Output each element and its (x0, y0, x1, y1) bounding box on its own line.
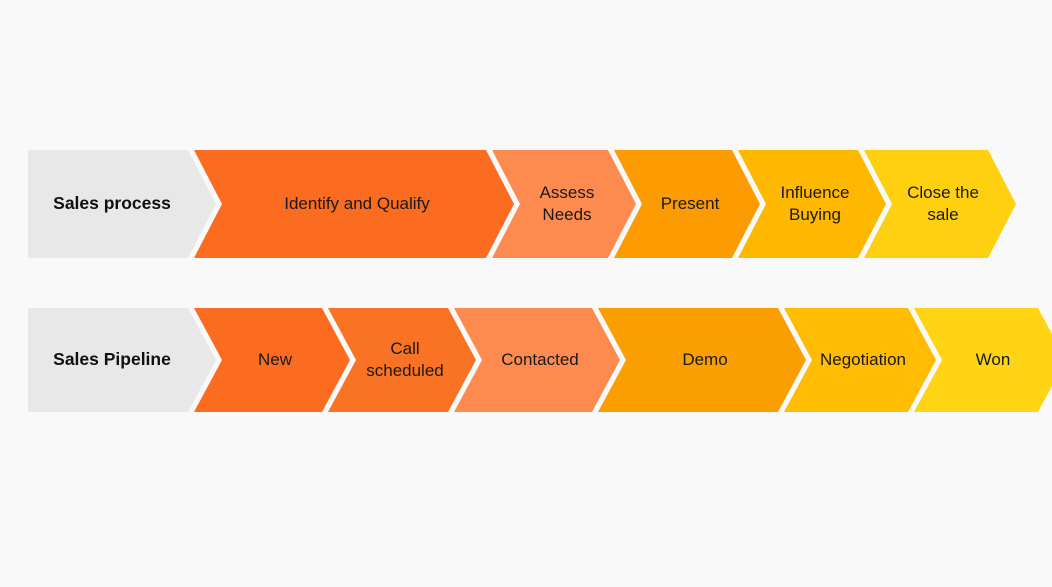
stage-sales-process-4[interactable]: Close the sale (864, 150, 1016, 258)
process-row-sales-pipeline: Sales PipelineNewCall scheduledContacted… (28, 308, 1052, 412)
stage-label: Negotiation (800, 349, 920, 371)
stage-label: Identify and Qualify (264, 193, 444, 215)
stage-label: Contacted (481, 349, 593, 371)
process-row-sales-process: Sales processIdentify and QualifyAssess … (28, 150, 1016, 258)
stage-label: Influence Buying (761, 182, 864, 227)
stage-sales-pipeline-4[interactable]: Negotiation (784, 308, 936, 412)
stage-label: Won (956, 349, 1025, 371)
stage-sales-process-3[interactable]: Influence Buying (738, 150, 886, 258)
chevron-diagram-canvas: Sales processIdentify and QualifyAssess … (0, 0, 1052, 587)
row-label-text: Sales process (47, 192, 197, 215)
stage-label: Close the sale (887, 182, 993, 227)
stage-sales-pipeline-1[interactable]: Call scheduled (328, 308, 476, 412)
row-label-text: Sales Pipeline (47, 348, 197, 371)
stage-sales-pipeline-0[interactable]: New (194, 308, 350, 412)
stage-label: New (238, 349, 306, 371)
stage-sales-process-0[interactable]: Identify and Qualify (194, 150, 514, 258)
stage-sales-pipeline-2[interactable]: Contacted (454, 308, 620, 412)
row-label-sales-process: Sales process (28, 150, 216, 258)
stage-sales-pipeline-3[interactable]: Demo (598, 308, 806, 412)
stage-label: Present (641, 193, 734, 215)
stage-label: Call scheduled (346, 338, 458, 383)
stage-label: Assess Needs (520, 182, 609, 227)
row-label-sales-pipeline: Sales Pipeline (28, 308, 216, 412)
stage-label: Demo (662, 349, 741, 371)
